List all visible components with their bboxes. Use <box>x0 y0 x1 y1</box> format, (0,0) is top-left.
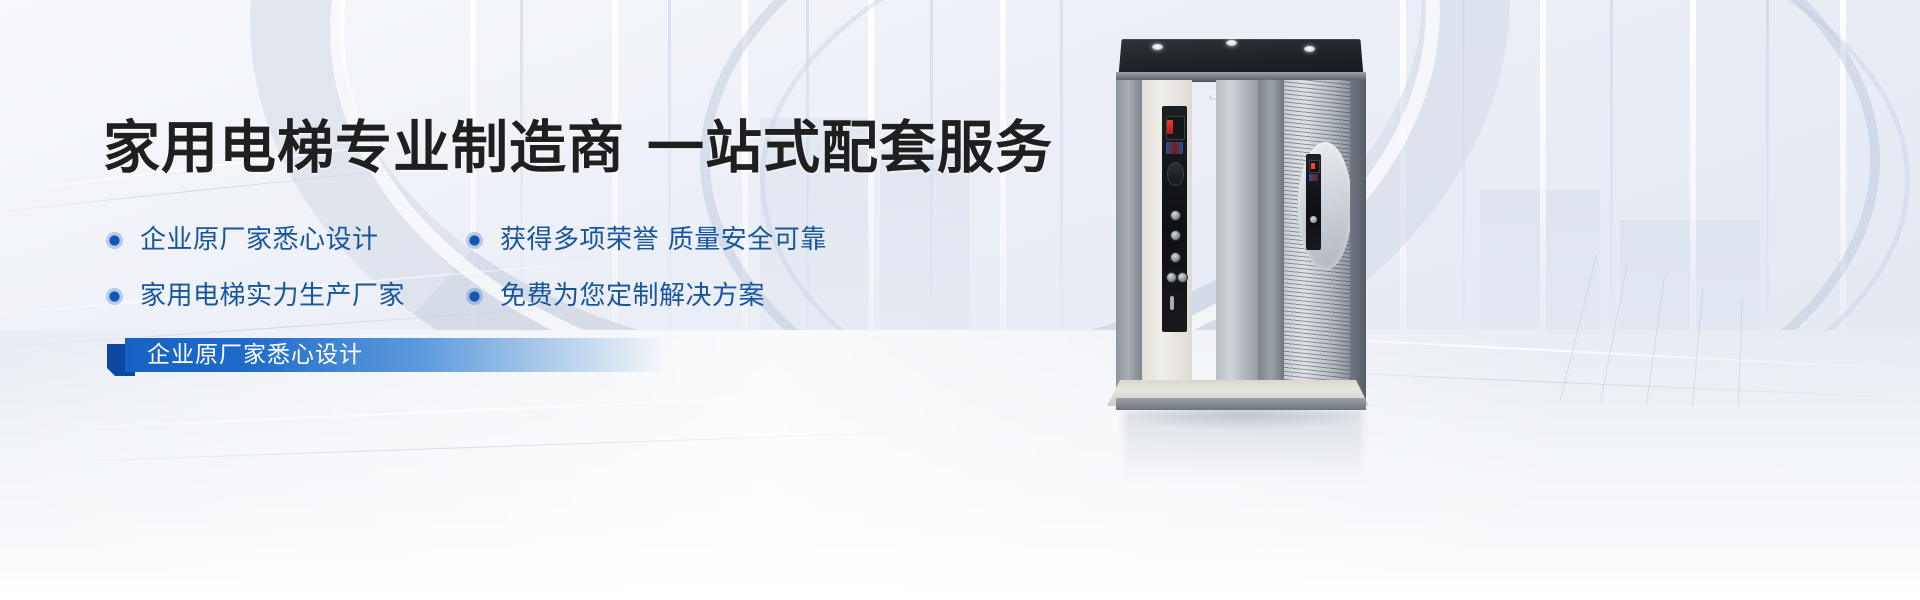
feature-item: 企业原厂家悉心设计 <box>106 225 466 255</box>
control-panel[interactable] <box>1162 106 1187 332</box>
feature-label: 家用电梯实力生产厂家 <box>140 281 405 311</box>
feature-item: 免费为您定制解决方案 <box>466 281 886 311</box>
elevator-cabin <box>1116 80 1366 414</box>
highlight-ribbon: 企业原厂家悉心设计 <box>107 338 667 376</box>
copy-block: 家用电梯专业制造商一站式配套服务 企业原厂家悉心设计 获得多项荣誉 质量安全可靠… <box>0 0 1100 600</box>
ceiling-light-icon <box>1226 40 1237 46</box>
door-open-button[interactable] <box>1166 272 1177 283</box>
floor-button[interactable] <box>1170 230 1181 241</box>
floor-button[interactable] <box>1170 210 1181 221</box>
floor-display-digit <box>1167 120 1173 134</box>
cabin-panel-dark <box>1258 80 1284 400</box>
promo-banner: 家用电梯专业制造商一站式配套服务 企业原厂家悉心设计 获得多项荣誉 质量安全可靠… <box>0 0 1920 600</box>
product-reflection <box>1124 412 1362 482</box>
panel-brand-label <box>1166 142 1183 154</box>
feature-label: 免费为您定制解决方案 <box>500 281 765 311</box>
cabin-base-frame <box>1116 398 1366 410</box>
feature-row: 家用电梯实力生产厂家 免费为您定制解决方案 <box>106 268 946 324</box>
feature-item: 获得多项荣誉 质量安全可靠 <box>466 225 886 255</box>
cabin-panel-steel <box>1216 80 1258 400</box>
cabin-wall-left <box>1116 80 1142 400</box>
feature-list: 企业原厂家悉心设计 获得多项荣誉 质量安全可靠 家用电梯实力生产厂家 免费为您定… <box>106 212 946 324</box>
rear-floor-display-digit <box>1311 163 1315 169</box>
feature-row: 企业原厂家悉心设计 获得多项荣誉 质量安全可靠 <box>106 212 946 268</box>
ceiling-light-icon <box>1152 44 1163 50</box>
ribbon-label: 企业原厂家悉心设计 <box>147 338 363 372</box>
rear-panel-brand-label <box>1309 174 1318 181</box>
rear-control-panel[interactable] <box>1306 154 1321 250</box>
bullet-dot-icon <box>106 288 123 305</box>
feature-item: 家用电梯实力生产厂家 <box>106 281 466 311</box>
headline-part-1: 家用电梯专业制造商 <box>103 115 625 181</box>
page-title: 家用电梯专业制造商一站式配套服务 <box>103 116 1053 180</box>
bullet-dot-icon <box>466 232 483 249</box>
key-slot-icon <box>1170 296 1174 310</box>
ceiling-light-icon <box>1304 46 1315 52</box>
headline-part-2: 一站式配套服务 <box>647 115 1053 181</box>
bullet-dot-icon <box>106 232 123 249</box>
bullet-dot-icon <box>466 288 483 305</box>
feature-label: 获得多项荣誉 质量安全可靠 <box>500 225 827 255</box>
floor-button[interactable] <box>1170 252 1181 263</box>
rear-floor-button[interactable] <box>1310 216 1317 223</box>
cabin-wall-right <box>1350 80 1366 400</box>
panel-speaker-icon <box>1167 162 1184 186</box>
home-elevator-image <box>1116 36 1366 414</box>
door-close-button[interactable] <box>1177 272 1188 283</box>
feature-label: 企业原厂家悉心设计 <box>140 225 379 255</box>
